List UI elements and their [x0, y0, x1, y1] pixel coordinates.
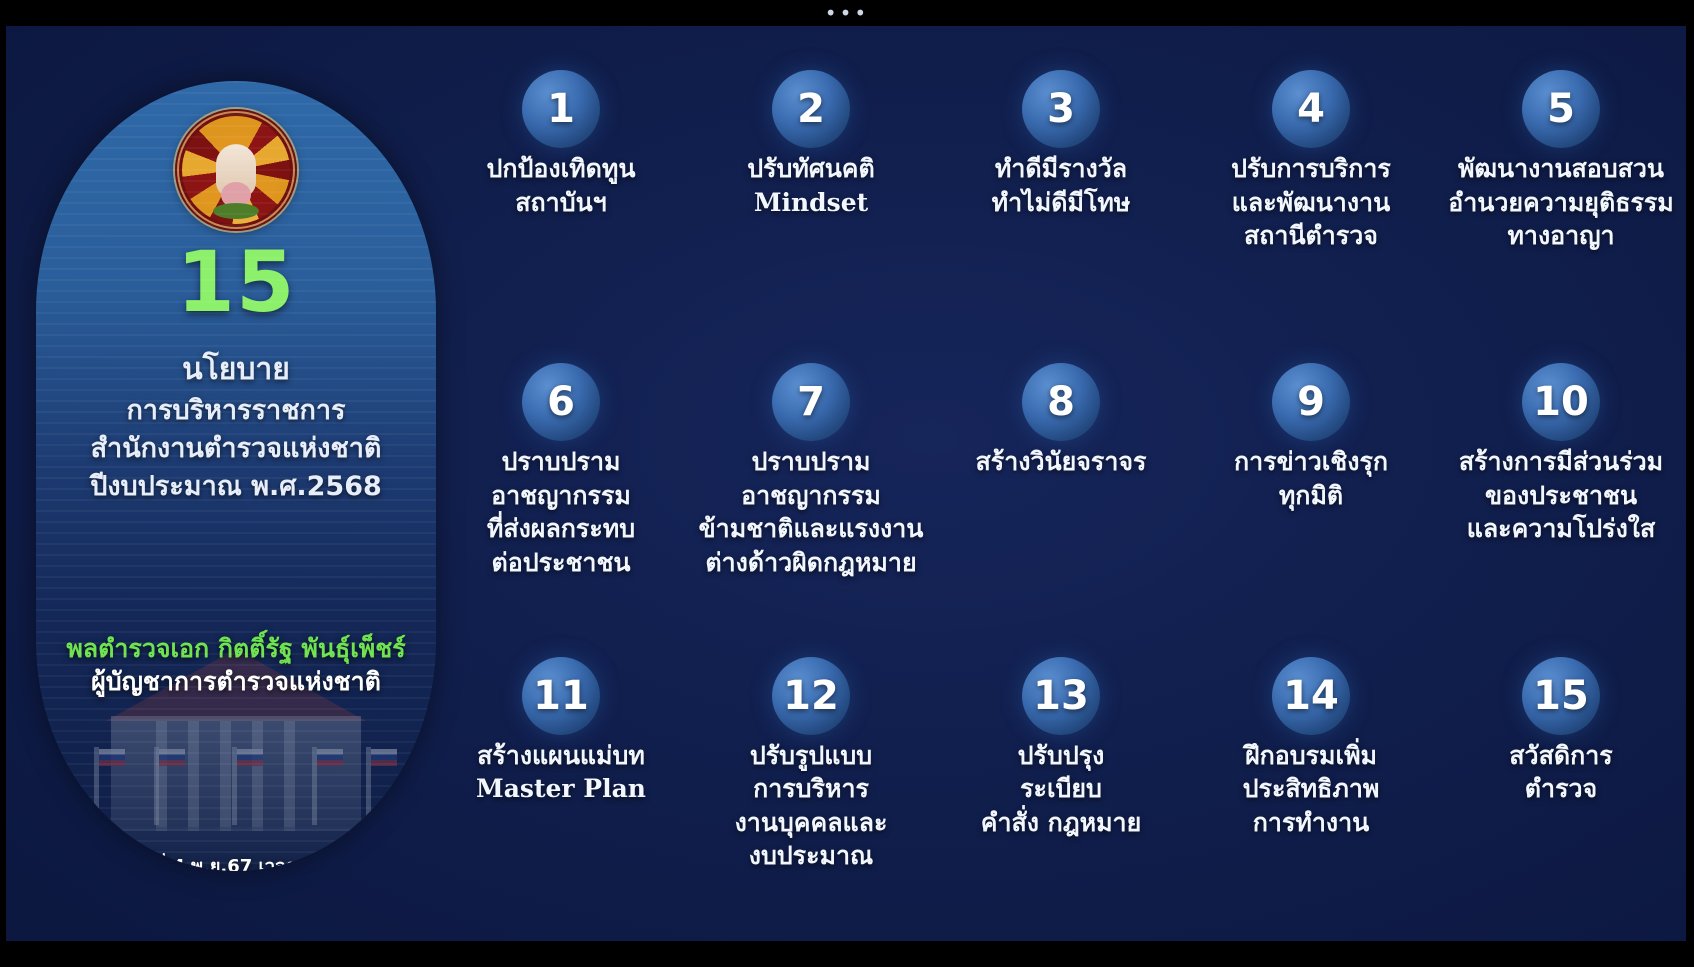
- policy-label-line: Master Plan: [476, 772, 646, 806]
- policy-label-line: ข้ามชาติและแรงงาน: [699, 512, 924, 546]
- policy-number-badge: 9: [1272, 363, 1350, 441]
- policy-number: 1: [547, 89, 575, 129]
- policy-item[interactable]: 1ปกป้องเทิดทูนสถาบันฯ: [436, 56, 686, 349]
- policy-item[interactable]: 9การข่าวเชิงรุกทุกมิติ: [1186, 349, 1436, 642]
- policy-item[interactable]: 8สร้างวินัยจราจร: [936, 349, 1186, 642]
- policy-item[interactable]: 5พัฒนางานสอบสวนอำนวยความยุติธรรมทางอาญา: [1436, 56, 1686, 349]
- policy-item[interactable]: 3ทำดีมีรางวัลทำไม่ดีมีโทษ: [936, 56, 1186, 349]
- policy-label-line: ฝึกอบรมเพิ่ม: [1243, 739, 1380, 773]
- policy-label-line: และพัฒนางาน: [1231, 186, 1391, 220]
- policy-number: 8: [1047, 382, 1075, 422]
- policy-label-line: สร้างการมีส่วนร่วม: [1459, 445, 1663, 479]
- policy-label-line: อาชญากรรม: [699, 479, 924, 513]
- policy-label-line: การบริหาร: [735, 772, 888, 806]
- policy-item[interactable]: 13ปรับปรุงระเบียบคำสั่ง กฎหมาย: [936, 643, 1186, 936]
- policy-number: 11: [533, 676, 589, 716]
- policy-label-line: งบประมาณ: [735, 839, 888, 873]
- policy-number: 2: [797, 89, 825, 129]
- policy-label-line: ปราบปราม: [699, 445, 924, 479]
- policy-label-line: ประสิทธิภาพ: [1243, 772, 1380, 806]
- policy-number: 3: [1047, 89, 1075, 129]
- policy-label-line: พัฒนางานสอบสวน: [1448, 152, 1674, 186]
- policy-label-line: อาชญากรรม: [487, 479, 635, 513]
- policy-label-line: ปรับการบริการ: [1231, 152, 1391, 186]
- card-title-line-2: การบริหารราชการ: [52, 392, 420, 430]
- policy-label: ปราบปรามอาชญากรรมข้ามชาติและแรงงานต่างด้…: [699, 445, 924, 579]
- policy-count: 15: [36, 243, 436, 323]
- policy-number-badge: 3: [1022, 70, 1100, 148]
- policy-number-badge: 5: [1522, 70, 1600, 148]
- policy-label-line: สร้างวินัยจราจร: [976, 445, 1147, 479]
- policy-number: 14: [1283, 676, 1339, 716]
- policy-grid: 1ปกป้องเทิดทูนสถาบันฯ2ปรับทัศนคติMindset…: [436, 56, 1686, 936]
- policy-number: 4: [1297, 89, 1325, 129]
- policy-number-badge: 7: [772, 363, 850, 441]
- policy-label-line: อำนวยความยุติธรรม: [1448, 186, 1674, 220]
- policy-label-line: ปกป้องเทิดทูน: [487, 152, 636, 186]
- policy-number-badge: 4: [1272, 70, 1350, 148]
- policy-number: 15: [1533, 676, 1589, 716]
- chief-block: พลตำรวจเอก กิตติ์รัฐ พันธุ์เพ็ชร์ ผู้บัญ…: [36, 633, 436, 698]
- policy-label: สร้างวินัยจราจร: [976, 445, 1147, 479]
- chief-name: พลตำรวจเอก กิตติ์รัฐ พันธุ์เพ็ชร์: [46, 633, 426, 666]
- window-top-bar: •••: [0, 0, 1694, 26]
- policy-label-line: ต่างด้าวผิดกฎหมาย: [699, 546, 924, 580]
- policy-label-line: งานบุคคลและ: [735, 806, 888, 840]
- bottom-letterbox: [0, 941, 1694, 967]
- policy-label: สวัสดิการตำรวจ: [1509, 739, 1612, 806]
- policy-label-line: ปรับทัศนคติ: [747, 152, 875, 186]
- policy-label: การข่าวเชิงรุกทุกมิติ: [1234, 445, 1388, 512]
- policy-number-badge: 8: [1022, 363, 1100, 441]
- policy-label: ปรับทัศนคติMindset: [747, 152, 875, 219]
- chief-role: ผู้บัญชาการตำรวจแห่งชาติ: [46, 666, 426, 699]
- policy-label-line: การข่าวเชิงรุก: [1234, 445, 1388, 479]
- policy-number: 7: [797, 382, 825, 422]
- policy-label-line: ต่อประชาชน: [487, 546, 635, 580]
- policy-label-line: ระเบียบ: [981, 772, 1142, 806]
- policy-label: สร้างแผนแม่บทMaster Plan: [476, 739, 646, 806]
- policy-item[interactable]: 12ปรับรูปแบบการบริหารงานบุคคลและงบประมาณ: [686, 643, 936, 936]
- policy-label-line: ตำรวจ: [1509, 772, 1612, 806]
- card-title-line-1: นโยบาย: [52, 349, 420, 392]
- policy-label-line: และความโปร่งใส: [1459, 512, 1663, 546]
- policy-label: ปรับรูปแบบการบริหารงานบุคคลและงบประมาณ: [735, 739, 888, 873]
- policy-number: 6: [547, 382, 575, 422]
- policy-label: ปราบปรามอาชญากรรมที่ส่งผลกระทบต่อประชาชน: [487, 445, 635, 579]
- policy-number: 12: [783, 676, 839, 716]
- policy-poster: 15 นโยบาย การบริหารราชการ สำนักงานตำรวจแ…: [6, 26, 1686, 941]
- policy-label: พัฒนางานสอบสวนอำนวยความยุติธรรมทางอาญา: [1448, 152, 1674, 253]
- right-letterbox: [1686, 26, 1694, 941]
- policy-label: ปกป้องเทิดทูนสถาบันฯ: [487, 152, 636, 219]
- policy-item[interactable]: 4ปรับการบริการและพัฒนางานสถานีตำรวจ: [1186, 56, 1436, 349]
- policy-label: ปรับปรุงระเบียบคำสั่ง กฎหมาย: [981, 739, 1142, 840]
- card-title-line-3: สำนักงานตำรวจแห่งชาติ: [52, 430, 420, 468]
- policy-label-line: Mindset: [747, 186, 875, 220]
- policy-number: 5: [1547, 89, 1575, 129]
- policy-label-line: ทางอาญา: [1448, 219, 1674, 253]
- policy-label: ทำดีมีรางวัลทำไม่ดีมีโทษ: [992, 152, 1131, 219]
- summary-card: 15 นโยบาย การบริหารราชการ สำนักงานตำรวจแ…: [36, 81, 436, 871]
- policy-number-badge: 11: [522, 657, 600, 735]
- policy-label-line: ทำดีมีรางวัล: [992, 152, 1131, 186]
- policy-label-line: ปรับรูปแบบ: [735, 739, 888, 773]
- policy-label-line: ของประชาชน: [1459, 479, 1663, 513]
- policy-item[interactable]: 15สวัสดิการตำรวจ: [1436, 643, 1686, 936]
- policy-label: สร้างการมีส่วนร่วมของประชาชนและความโปร่ง…: [1459, 445, 1663, 546]
- royal-thai-police-seal-icon: [175, 109, 297, 231]
- policy-label-line: ทุกมิติ: [1234, 479, 1388, 513]
- policy-label-line: สถาบันฯ: [487, 186, 636, 220]
- policy-item[interactable]: 10สร้างการมีส่วนร่วมของประชาชนและความโปร…: [1436, 349, 1686, 642]
- policy-label-line: สวัสดิการ: [1509, 739, 1612, 773]
- policy-label: ฝึกอบรมเพิ่มประสิทธิภาพการทำงาน: [1243, 739, 1380, 840]
- policy-label: ปรับการบริการและพัฒนางานสถานีตำรวจ: [1231, 152, 1391, 253]
- policy-number: 10: [1533, 382, 1589, 422]
- policy-number-badge: 13: [1022, 657, 1100, 735]
- policy-label-line: สร้างแผนแม่บท: [476, 739, 646, 773]
- policy-label-line: ทำไม่ดีมีโทษ: [992, 186, 1131, 220]
- policy-label-line: ปรับปรุง: [981, 739, 1142, 773]
- policy-number-badge: 12: [772, 657, 850, 735]
- screenshot-root: •••: [0, 0, 1694, 967]
- policy-item[interactable]: 2ปรับทัศนคติMindset: [686, 56, 936, 349]
- policy-item[interactable]: 14ฝึกอบรมเพิ่มประสิทธิภาพการทำงาน: [1186, 643, 1436, 936]
- card-title-line-4: ปีงบประมาณ พ.ศ.2568: [52, 468, 420, 506]
- policy-number-badge: 2: [772, 70, 850, 148]
- policy-item[interactable]: 6ปราบปรามอาชญากรรมที่ส่งผลกระทบต่อประชาช…: [436, 349, 686, 642]
- policy-label-line: สถานีตำรวจ: [1231, 219, 1391, 253]
- policy-label-line: คำสั่ง กฎหมาย: [981, 806, 1142, 840]
- policy-number-badge: 6: [522, 363, 600, 441]
- policy-number-badge: 1: [522, 70, 600, 148]
- policy-number: 13: [1033, 676, 1089, 716]
- policy-item[interactable]: 11สร้างแผนแม่บทMaster Plan: [436, 643, 686, 936]
- policy-number-badge: 15: [1522, 657, 1600, 735]
- policy-number-badge: 14: [1272, 657, 1350, 735]
- policy-label-line: ที่ส่งผลกระทบ: [487, 512, 635, 546]
- policy-label-line: การทำงาน: [1243, 806, 1380, 840]
- overflow-dots-icon[interactable]: •••: [825, 8, 869, 18]
- policy-number-badge: 10: [1522, 363, 1600, 441]
- event-datetime: วันจันทร์ที่ 4 พ.ย.67 เวลา 14.00 น.: [36, 851, 436, 871]
- policy-number: 9: [1297, 382, 1325, 422]
- card-title: นโยบาย การบริหารราชการ สำนักงานตำรวจแห่ง…: [36, 349, 436, 507]
- policy-item[interactable]: 7ปราบปรามอาชญากรรมข้ามชาติและแรงงานต่างด…: [686, 349, 936, 642]
- policy-label-line: ปราบปราม: [487, 445, 635, 479]
